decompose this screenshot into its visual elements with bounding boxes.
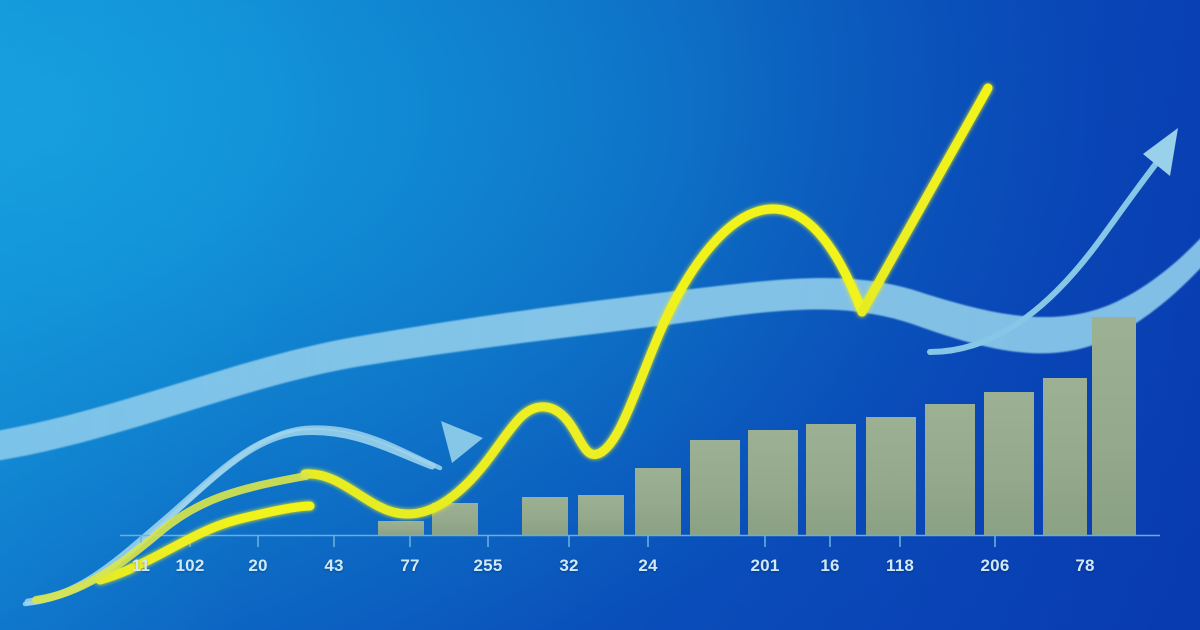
axis-tick-label: 77 — [400, 556, 419, 576]
axis-label-layer: 1110220437725532242011611820678 — [0, 0, 1200, 630]
axis-tick-label: 32 — [559, 556, 578, 576]
axis-tick-label: 11 — [132, 556, 150, 576]
axis-tick-label: 118 — [886, 556, 914, 576]
axis-tick-label: 43 — [324, 556, 343, 576]
axis-tick-label: 20 — [248, 556, 267, 576]
axis-tick-label: 16 — [820, 556, 839, 576]
axis-tick-label: 78 — [1075, 556, 1094, 576]
graphic-canvas: 1110220437725532242011611820678 — [0, 0, 1200, 630]
axis-tick-label: 24 — [638, 556, 657, 576]
axis-tick-label: 102 — [176, 556, 205, 576]
axis-tick-label: 255 — [474, 556, 503, 576]
axis-tick-label: 206 — [981, 556, 1010, 576]
axis-tick-label: 201 — [751, 556, 780, 576]
